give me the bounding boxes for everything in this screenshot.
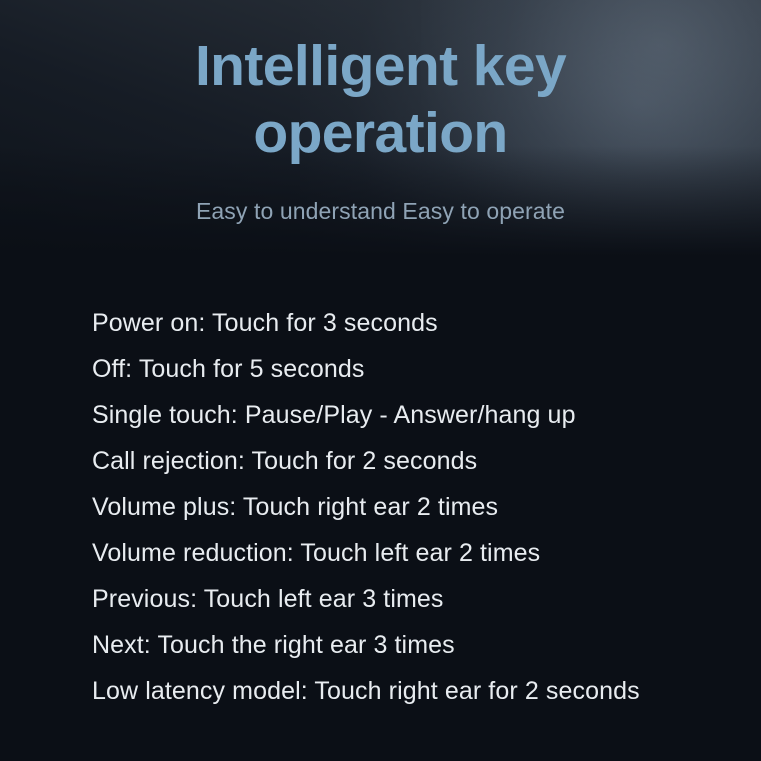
- instruction-label: Next: Touch the right ear 3 times: [92, 631, 455, 659]
- instruction-label: Power on: Touch for 3 seconds: [92, 309, 438, 337]
- list-item: Call rejection: Touch for 2 seconds: [92, 446, 732, 492]
- list-item: Previous: Touch left ear 3 times: [92, 584, 732, 630]
- list-item: Off: Touch for 5 seconds: [92, 354, 732, 400]
- instruction-label: Previous: Touch left ear 3 times: [92, 585, 444, 613]
- instruction-label: Single touch: Pause/Play - Answer/hang u…: [92, 401, 576, 429]
- list-item: Volume reduction: Touch left ear 2 times: [92, 538, 732, 584]
- instruction-label: Off: Touch for 5 seconds: [92, 355, 364, 383]
- product-instruction-poster: Intelligent key operation Easy to unders…: [0, 0, 761, 761]
- instruction-label: Volume plus: Touch right ear 2 times: [92, 493, 498, 521]
- list-item: Volume plus: Touch right ear 2 times: [92, 492, 732, 538]
- page-title: Intelligent key operation: [0, 0, 761, 167]
- instruction-label: Call rejection: Touch for 2 seconds: [92, 447, 477, 475]
- list-item: Low latency model: Touch right ear for 2…: [92, 676, 732, 722]
- list-item: Power on: Touch for 3 seconds: [92, 308, 732, 354]
- list-item: Single touch: Pause/Play - Answer/hang u…: [92, 400, 732, 446]
- key-operation-list: Power on: Touch for 3 seconds Off: Touch…: [92, 308, 732, 722]
- poster-header: Intelligent key operation Easy to unders…: [0, 0, 761, 226]
- list-item: Next: Touch the right ear 3 times: [92, 630, 732, 676]
- instruction-label: Volume reduction: Touch left ear 2 times: [92, 539, 540, 567]
- page-subtitle: Easy to understand Easy to operate: [0, 167, 761, 226]
- instruction-label: Low latency model: Touch right ear for 2…: [92, 677, 640, 705]
